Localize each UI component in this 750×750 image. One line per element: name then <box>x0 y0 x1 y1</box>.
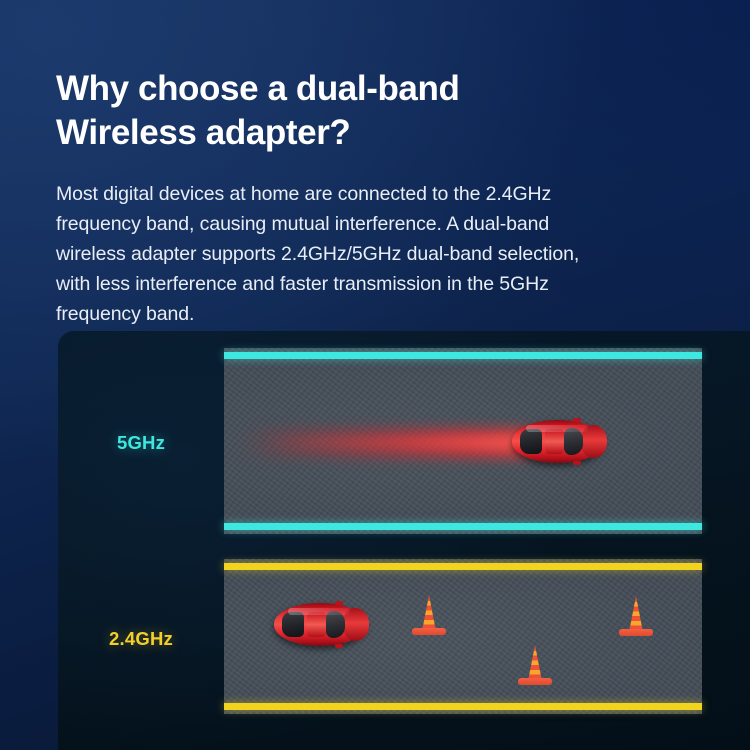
motion-blur-trail <box>236 428 536 458</box>
illustration-panel: 5GHz 2.4GHz <box>58 331 750 750</box>
page-title: Why choose a dual-band Wireless adapter? <box>56 67 676 154</box>
lane-label-24ghz: 2.4GHz <box>58 628 224 650</box>
description-line-1: Most digital devices at home are connect… <box>56 179 656 209</box>
lane-label-5ghz: 5GHz <box>58 432 224 454</box>
lane-stripe-yellow-bottom <box>224 703 702 710</box>
traffic-cone-icon <box>412 595 446 635</box>
road-lane-5ghz <box>224 348 702 534</box>
car-rear-glass <box>282 612 304 637</box>
description-line-4: with less interference and faster transm… <box>56 269 656 299</box>
cone-shape <box>416 595 442 630</box>
road-lane-24ghz <box>224 559 702 714</box>
traffic-cone-icon <box>619 596 653 636</box>
car-roof <box>307 612 326 637</box>
motion-blur-trail-highlight <box>264 436 534 449</box>
lane-label-column: 5GHz 2.4GHz <box>58 331 224 750</box>
car-windshield <box>326 611 345 638</box>
traffic-cone-icon <box>518 645 552 685</box>
car-roof <box>545 429 564 454</box>
description-paragraph: Most digital devices at home are connect… <box>56 179 656 329</box>
description-line-5: frequency band. <box>56 299 656 329</box>
description-line-2: frequency band, causing mutual interfere… <box>56 209 656 239</box>
car-windshield <box>564 428 583 455</box>
cone-shape <box>522 645 548 680</box>
lane-stripe-cyan-bottom <box>224 523 702 530</box>
page-title-line-1: Why choose a dual-band <box>56 67 676 110</box>
car-gloss-highlight <box>526 425 588 432</box>
cone-base <box>412 628 446 635</box>
description-line-3: wireless adapter supports 2.4GHz/5GHz du… <box>56 239 656 269</box>
car-fast-5ghz <box>512 420 604 463</box>
car-slow-24ghz <box>274 603 366 646</box>
car-mirror-left <box>573 418 581 422</box>
cone-base <box>518 678 552 685</box>
lane-stripe-yellow-top <box>224 563 702 570</box>
car-mirror-right <box>573 461 581 465</box>
cone-base <box>619 629 653 636</box>
cone-shape <box>623 596 649 631</box>
car-mirror-left <box>335 601 343 605</box>
page-title-line-2: Wireless adapter? <box>56 111 676 154</box>
promo-graphic: Why choose a dual-band Wireless adapter?… <box>0 0 750 750</box>
car-mirror-right <box>335 644 343 648</box>
lane-stripe-cyan-top <box>224 352 702 359</box>
car-gloss-highlight <box>288 608 350 615</box>
car-rear-glass <box>520 429 542 454</box>
